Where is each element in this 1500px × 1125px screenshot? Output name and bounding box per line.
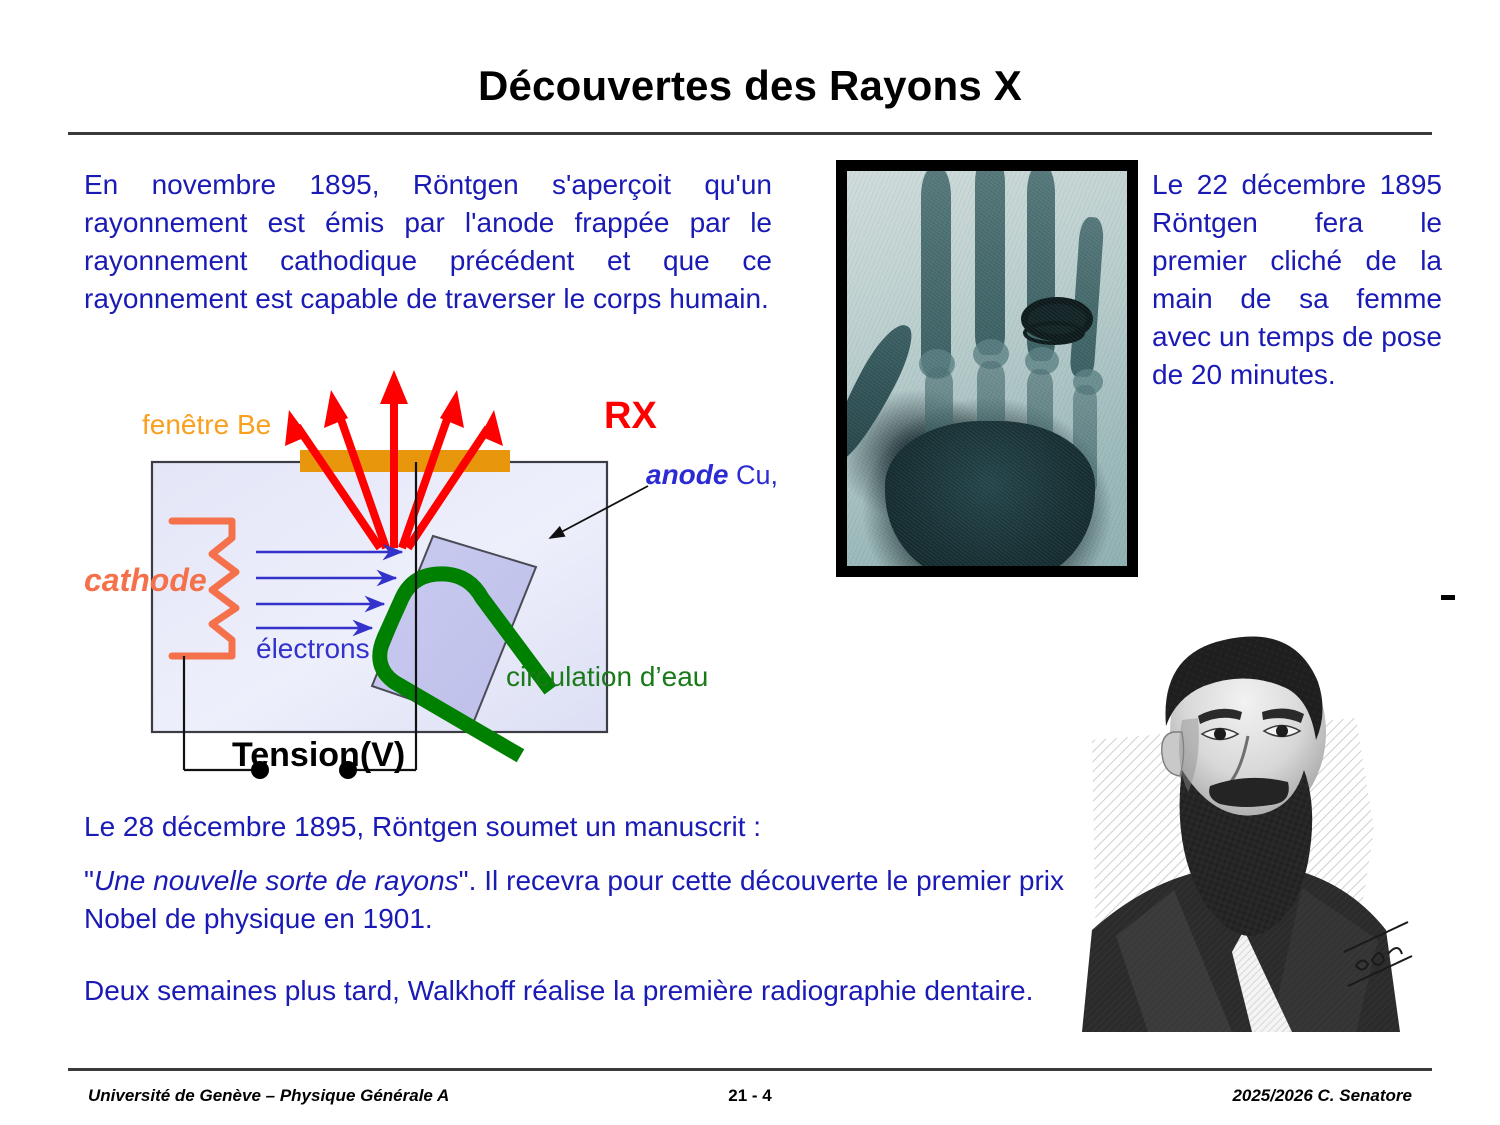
xray-caption: Le 22 décembre 1895 Röntgen fera le prem… <box>1152 166 1442 394</box>
label-electrons: électrons <box>256 633 370 664</box>
quote-open: " <box>84 865 94 896</box>
beryllium-window <box>300 450 510 472</box>
intro-paragraph: En novembre 1895, Röntgen s'aperçoit qu'… <box>84 166 772 318</box>
label-anode: anode Cu, Mo,.. <box>646 459 784 490</box>
label-cathode: cathode <box>84 562 207 598</box>
nobel-paragraph: "Une nouvelle sorte de rayons". Il recev… <box>84 862 1064 938</box>
quote-title: Une nouvelle sorte de rayons <box>94 865 459 896</box>
footer-author: 2025/2026 C. Senatore <box>1232 1086 1412 1106</box>
slide-canvas: Découvertes des Rayons X En novembre 189… <box>0 0 1500 1125</box>
label-fenetre-be: fenêtre Be <box>142 409 271 440</box>
footer-divider <box>68 1068 1432 1071</box>
xray-hand-photo <box>836 160 1138 577</box>
xray-tube-diagram: RX fenêtre Be cathode électrons anode Cu… <box>84 366 784 786</box>
page-title: Découvertes des Rayons X <box>0 62 1500 110</box>
label-tension: Tension(V) <box>232 736 405 774</box>
dental-paragraph: Deux semaines plus tard, Walkhoff réalis… <box>84 972 1069 1010</box>
xray-image-content <box>847 171 1127 566</box>
header-divider <box>68 132 1432 135</box>
label-circulation-eau: circulation d’eau <box>506 661 708 692</box>
label-rx: RX <box>604 395 657 437</box>
portrait-engraving <box>1082 637 1412 1032</box>
rontgen-portrait <box>1056 600 1436 1032</box>
manuscript-paragraph: Le 28 décembre 1895, Röntgen soumet un m… <box>84 808 1064 846</box>
stray-dash-artifact <box>1441 595 1455 600</box>
film-grain-texture <box>847 171 1127 566</box>
